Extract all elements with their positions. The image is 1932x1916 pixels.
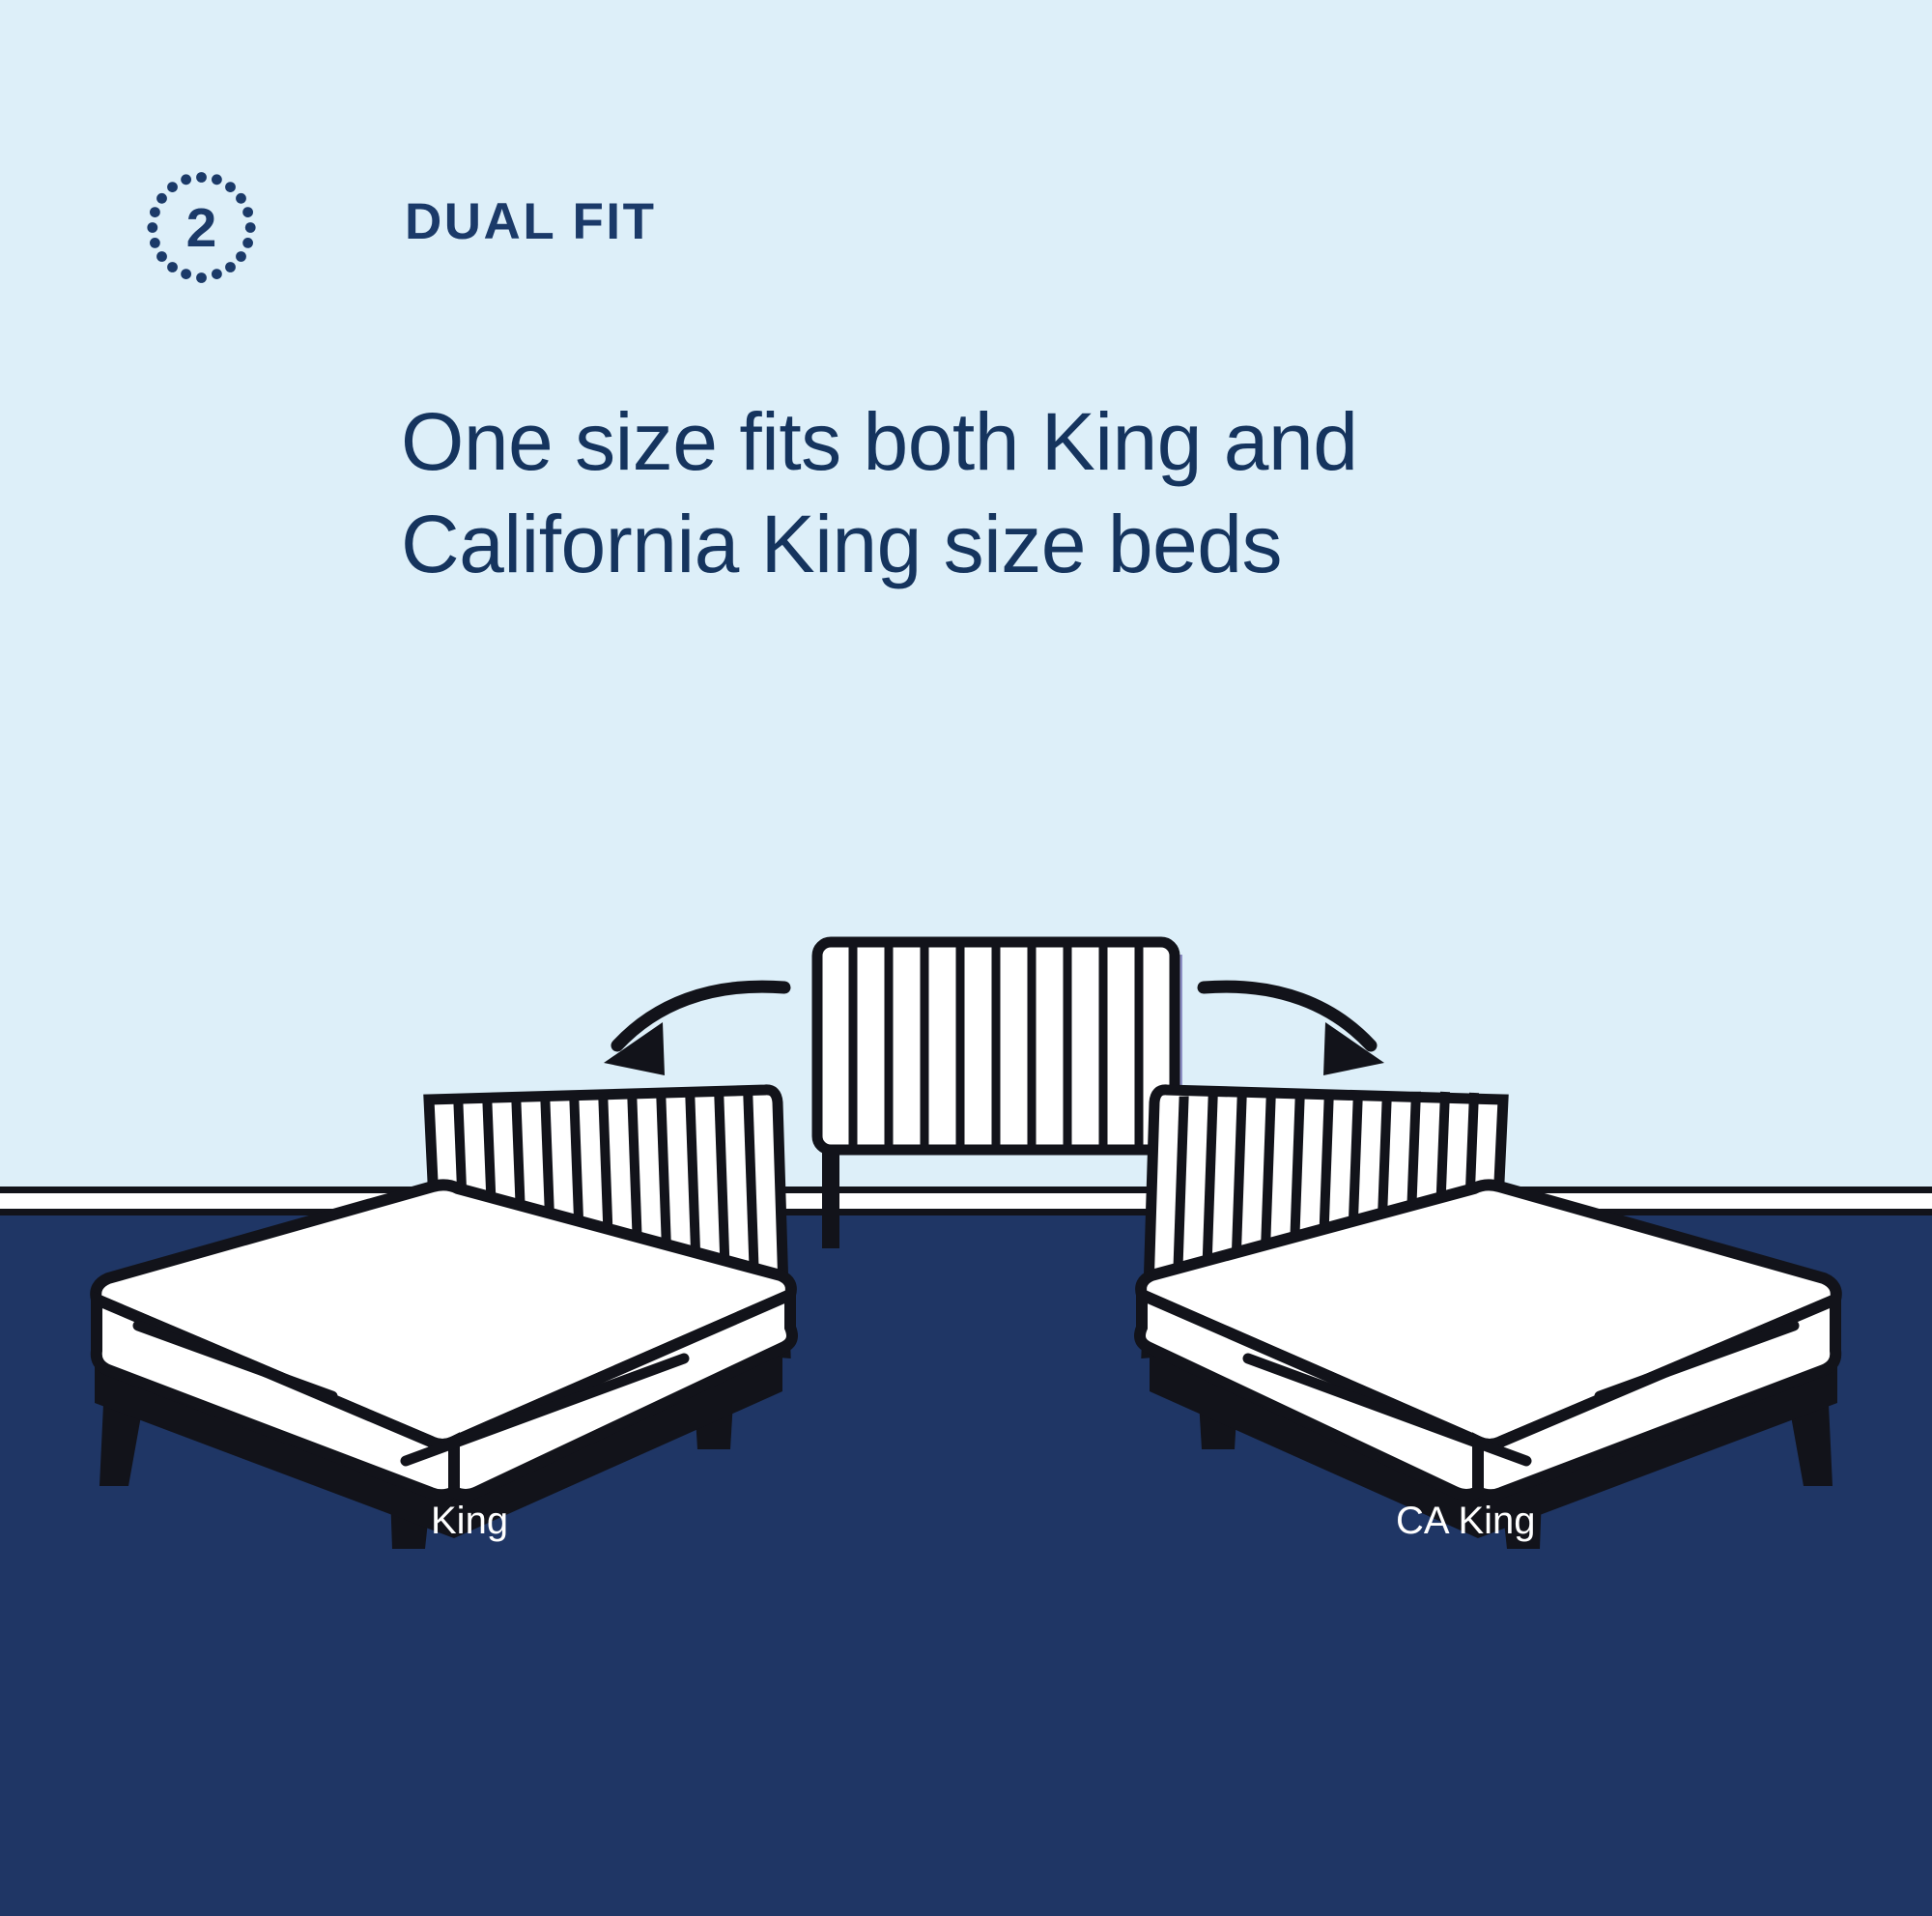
infographic-canvas: 2 DUAL FIT One size fits both King and C… (0, 0, 1932, 1916)
bed-label-king: King (431, 1500, 508, 1543)
king-bed (95, 1086, 792, 1549)
bed-illustration (0, 0, 1932, 1916)
standalone-headboard (817, 942, 1182, 1248)
ca-king-bed (1140, 1086, 1837, 1549)
arrow-to-ca-king (1204, 987, 1384, 1075)
bed-label-ca-king: CA King (1396, 1500, 1536, 1543)
arrow-to-king (604, 987, 784, 1075)
